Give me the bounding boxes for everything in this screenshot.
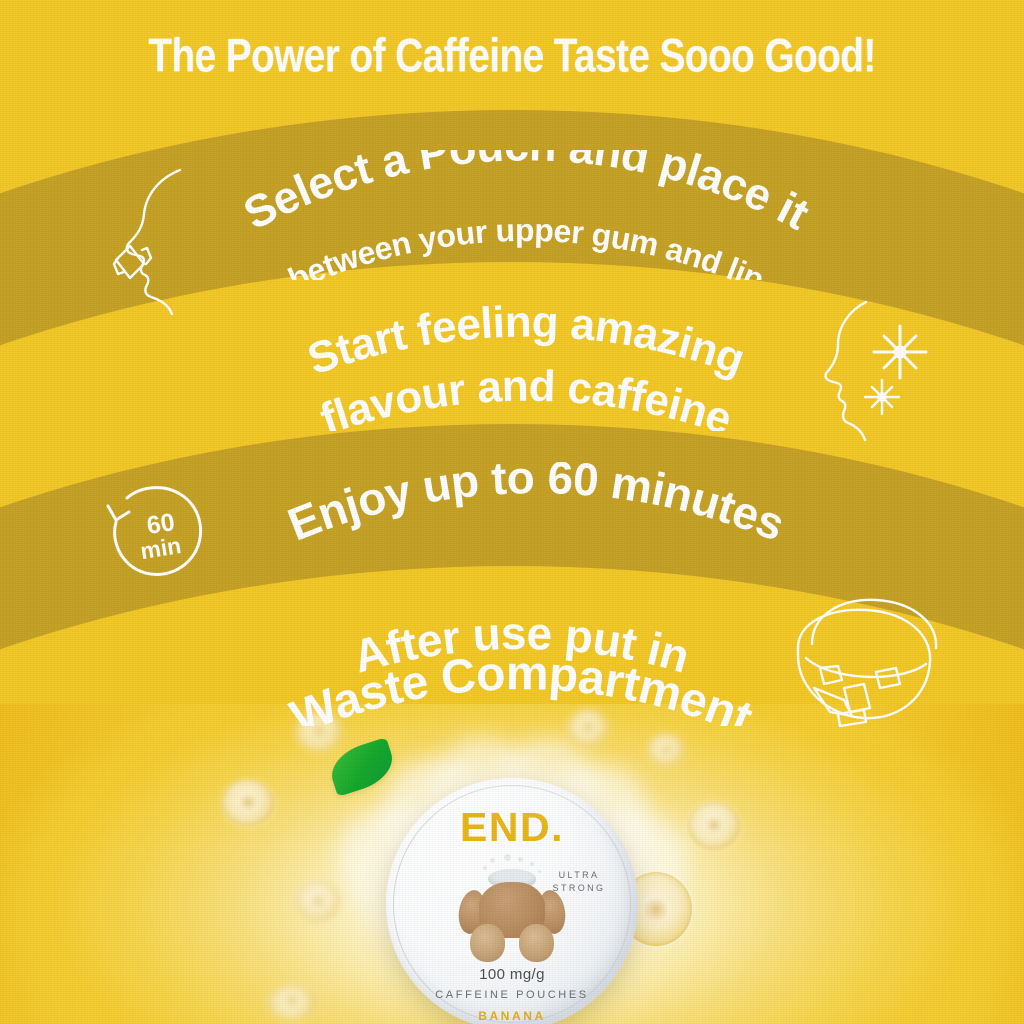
bear-leg-right bbox=[519, 924, 554, 962]
bear-leg-left bbox=[470, 924, 505, 962]
flavour-label: BANANA bbox=[386, 1009, 638, 1023]
poster-canvas: The Power of Caffeine Taste Sooo Good! S… bbox=[0, 0, 1024, 1024]
banana-slice bbox=[648, 734, 684, 766]
banana-slice bbox=[296, 880, 340, 922]
face-profile-with-pouch-icon bbox=[48, 168, 223, 318]
waste-compartment-can-icon bbox=[790, 596, 960, 756]
banana-slice bbox=[568, 710, 608, 746]
strength-line-1: ULTRA bbox=[536, 869, 622, 882]
page-title: The Power of Caffeine Taste Sooo Good! bbox=[15, 30, 1008, 83]
timer-unit: min bbox=[139, 532, 183, 564]
face-profile-with-sparkles-icon bbox=[822, 300, 972, 450]
banana-slice bbox=[296, 712, 342, 752]
sixty-minute-timer-icon: 60 min bbox=[98, 478, 223, 598]
product-can[interactable]: END. ULTRA STRONG bbox=[386, 778, 638, 1024]
dose-label: 100 mg/g bbox=[386, 966, 638, 983]
category-label: CAFFEINE POUCHES bbox=[386, 989, 638, 1001]
banana-slice bbox=[222, 780, 274, 826]
banana-slice bbox=[688, 802, 740, 850]
can-lid-surface: END. ULTRA STRONG bbox=[386, 778, 638, 1024]
powder-dot bbox=[538, 870, 541, 873]
banana-slice bbox=[268, 986, 316, 1020]
teddy-bear-mascot bbox=[453, 882, 571, 966]
